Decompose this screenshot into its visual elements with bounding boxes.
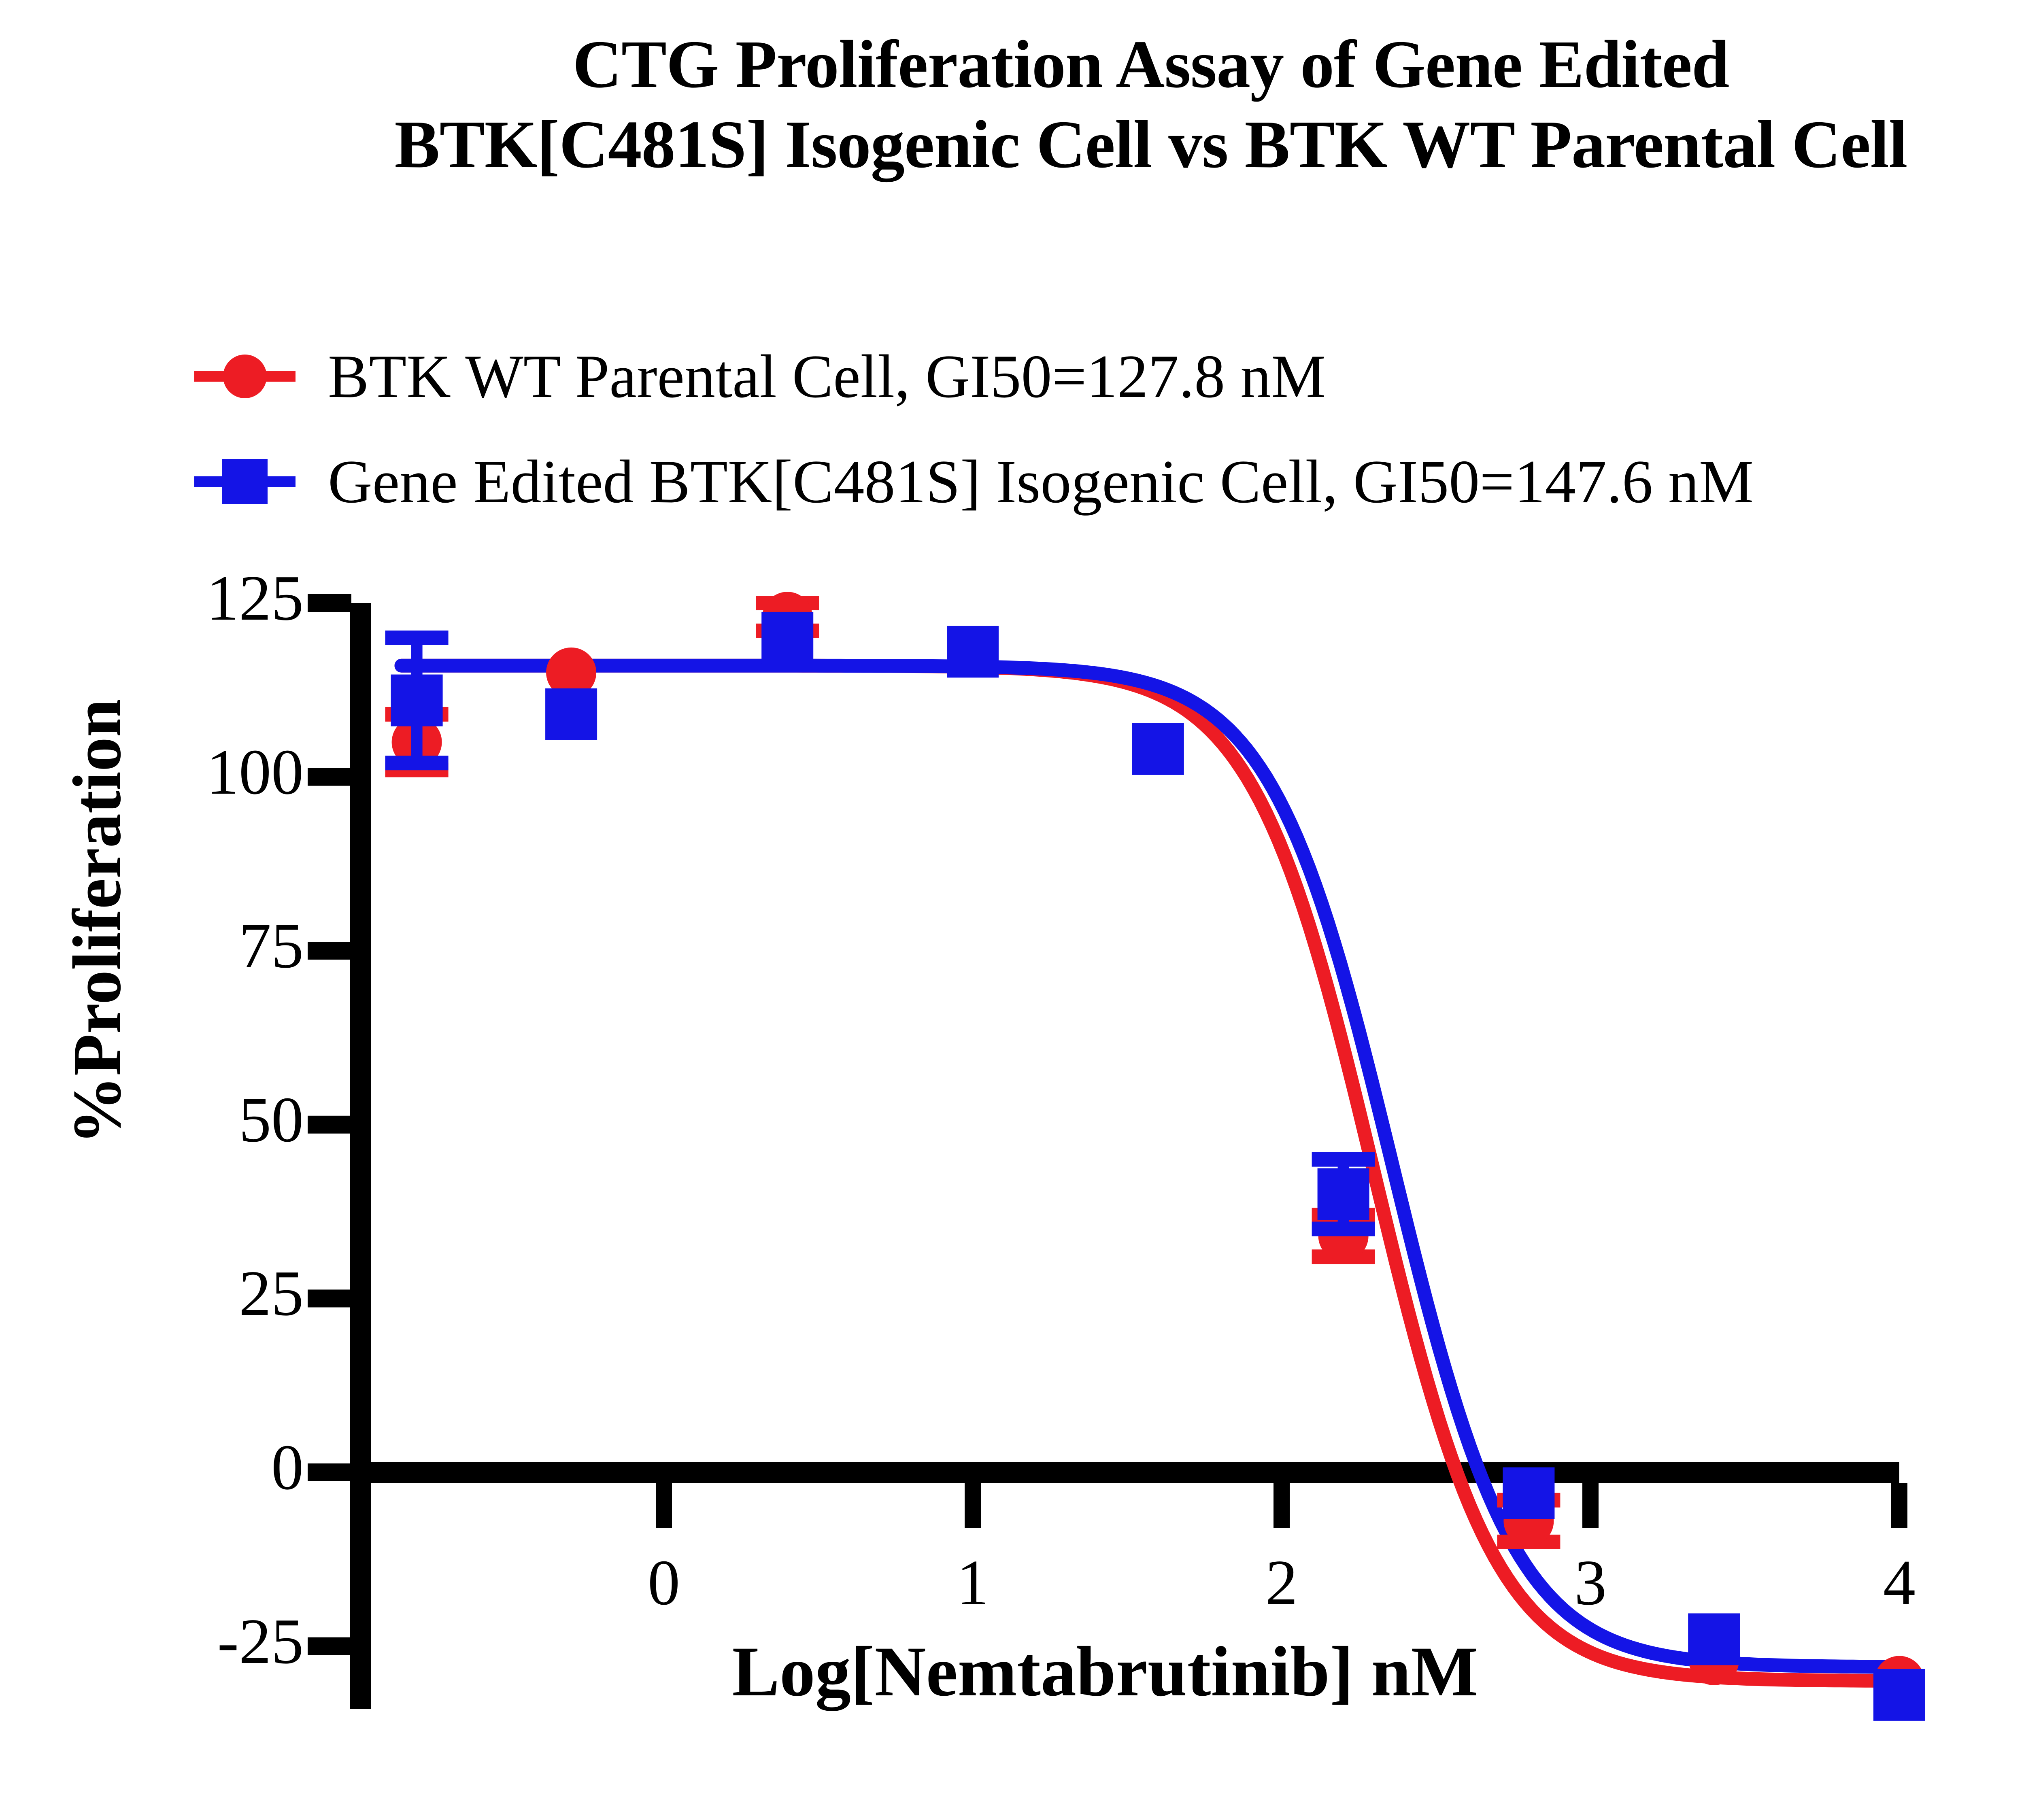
x-tick [1274,1483,1290,1528]
y-tick-label: 100 [77,735,304,809]
y-tick [308,768,351,786]
data-point-square [1318,1168,1369,1220]
x-tick [965,1483,981,1528]
x-tick-label: 2 [1201,1545,1363,1620]
axes [350,603,1899,1709]
fit-curve [402,666,1896,1667]
data-point-square [1503,1467,1554,1519]
data-point-square [545,688,597,740]
x-axis-spine [350,1462,1899,1483]
error-bar-cap [385,756,449,770]
data-point-square [1132,723,1184,775]
data-point-square [947,626,999,677]
y-tick-label: 125 [77,561,304,635]
y-axis-spine [350,603,371,1709]
data-point-square [1873,1669,1925,1721]
x-tick [656,1483,672,1528]
x-tick-label: 1 [892,1545,1054,1620]
y-tick-label: 50 [77,1082,304,1157]
y-tick [308,1289,351,1307]
error-bar-cap [385,631,449,645]
data-point-square [391,675,443,726]
x-tick-label: 4 [1818,1545,1980,1620]
axis-ticks [308,594,1907,1655]
y-tick [308,594,351,612]
error-bar-cap [1312,1222,1375,1236]
x-axis-label: Log[Nemtabrutinib] nM [559,1631,1652,1713]
y-tick-label: -25 [77,1604,304,1679]
x-tick-label: 3 [1509,1545,1671,1620]
y-tick-label: 75 [77,908,304,983]
x-tick [1582,1483,1599,1528]
y-tick [308,942,351,960]
y-tick [308,1116,351,1134]
fit-curve [402,666,1896,1681]
y-tick-label: 0 [77,1430,304,1505]
data-point-square [761,612,813,664]
y-tick [308,1463,351,1481]
error-bar-cap [1312,1152,1375,1167]
x-tick [1891,1483,1907,1528]
data-point-square [1688,1613,1740,1665]
x-tick-label: 0 [583,1545,745,1620]
y-tick [308,1637,351,1655]
y-tick-label: 25 [77,1256,304,1331]
